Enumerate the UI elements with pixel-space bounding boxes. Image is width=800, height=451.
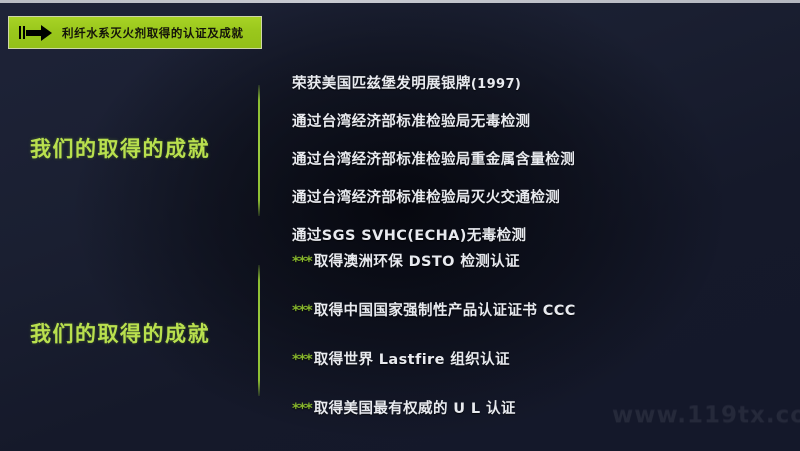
bullet-marker: *** <box>292 401 312 417</box>
list-item-text: 取得中国国家强制性产品认证证书 CCC <box>314 303 576 319</box>
list-item: ***取得美国最有权威的 U L 认证 <box>292 397 576 418</box>
list-item-text: 通过SGS SVHC(ECHA)无毒检测 <box>292 228 526 244</box>
list-item: ***取得世界 Lastfire 组织认证 <box>292 348 576 369</box>
list-item: 通过台湾经济部标准检验局灭火交通检测 <box>292 186 575 207</box>
list-item-text: 荣获美国匹兹堡发明展银牌 <box>292 76 471 92</box>
watermark: www.119tx.com <box>612 402 800 428</box>
achievements-list-1: 荣获美国匹兹堡发明展银牌(1997) 通过台湾经济部标准检验局无毒检测 通过台湾… <box>292 72 575 245</box>
list-item: 荣获美国匹兹堡发明展银牌(1997) <box>292 72 575 93</box>
right-arrow-icon <box>19 25 52 41</box>
list-item: 通过台湾经济部标准检验局重金属含量检测 <box>292 148 575 169</box>
banner-title: 利纤水系灭火剂取得的认证及成就 <box>62 25 244 41</box>
header-banner: 利纤水系灭火剂取得的认证及成就 <box>8 16 262 49</box>
list-item-text: 通过台湾经济部标准检验局重金属含量检测 <box>292 152 575 168</box>
section-divider-2 <box>258 265 260 396</box>
list-item-text: 取得澳洲环保 DSTO 检测认证 <box>314 254 520 270</box>
list-item-text: 通过台湾经济部标准检验局无毒检测 <box>292 114 530 130</box>
list-item: 通过SGS SVHC(ECHA)无毒检测 <box>292 224 575 245</box>
slide-canvas: 利纤水系灭火剂取得的认证及成就 我们的取得的成就 荣获美国匹兹堡发明展银牌(19… <box>0 0 800 451</box>
section-heading-achievements-1: 我们的取得的成就 <box>30 133 245 163</box>
list-item-text: 取得世界 Lastfire 组织认证 <box>314 352 510 368</box>
list-item-text: 取得美国最有权威的 U L 认证 <box>314 401 516 417</box>
list-item: ***取得中国国家强制性产品认证证书 CCC <box>292 299 576 320</box>
top-edge-strip <box>0 0 800 3</box>
bullet-marker: *** <box>292 303 312 319</box>
list-item: 通过台湾经济部标准检验局无毒检测 <box>292 110 575 131</box>
section-heading-achievements-2: 我们的取得的成就 <box>30 318 245 348</box>
list-item-suffix: (1997) <box>471 77 521 92</box>
bullet-marker: *** <box>292 352 312 368</box>
bullet-marker: *** <box>292 254 312 270</box>
list-item: ***取得澳洲环保 DSTO 检测认证 <box>292 250 576 271</box>
achievements-list-2: ***取得澳洲环保 DSTO 检测认证 ***取得中国国家强制性产品认证证书 C… <box>292 250 576 418</box>
section-divider-1 <box>258 85 260 216</box>
list-item-text: 通过台湾经济部标准检验局灭火交通检测 <box>292 190 560 206</box>
